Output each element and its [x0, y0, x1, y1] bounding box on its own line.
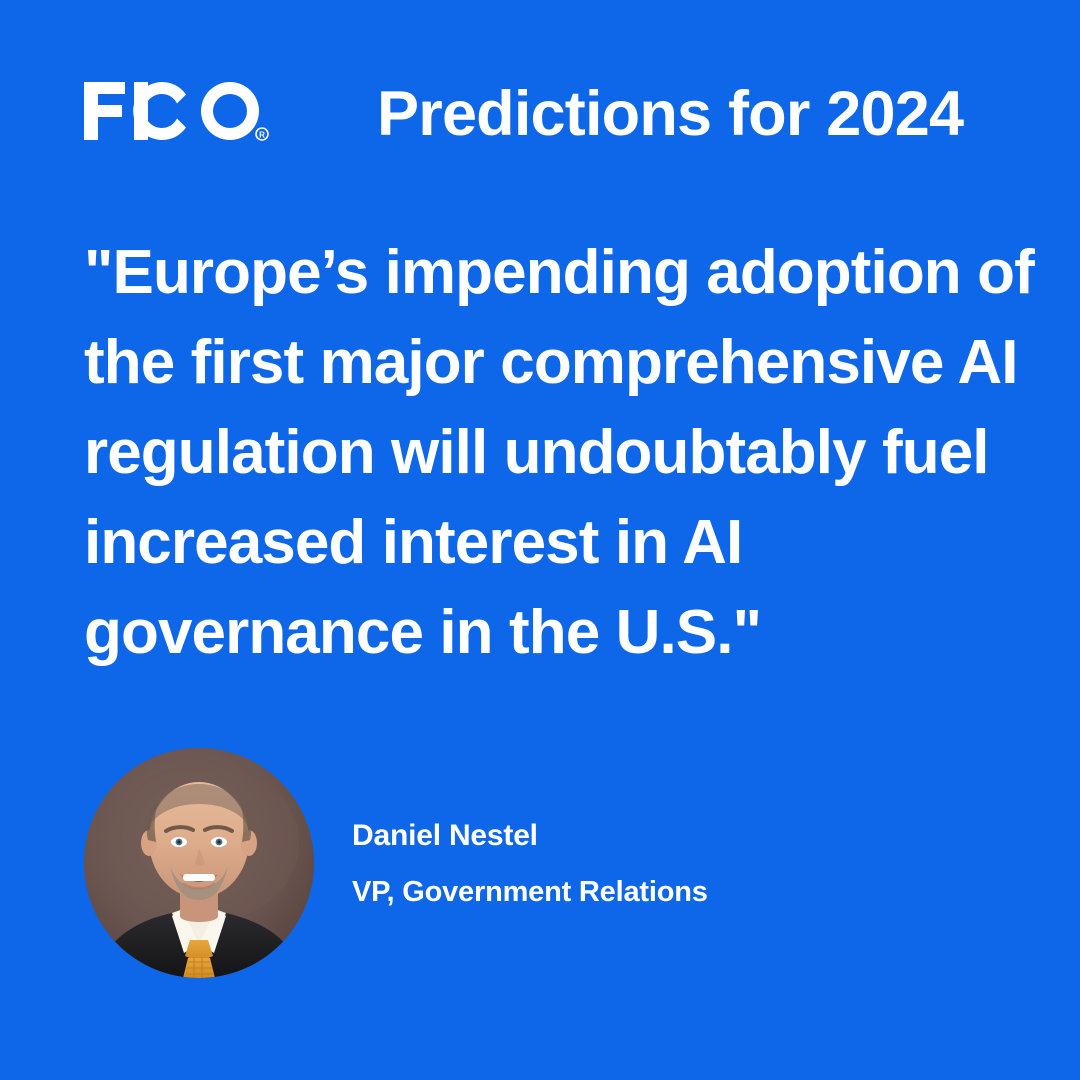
quote-text: "Europe’s impending adoption of the firs… — [84, 228, 1024, 678]
quote-line: regulation will undoubtably fuel — [84, 408, 1024, 498]
avatar — [84, 748, 314, 978]
quote-line: increased interest in AI — [84, 498, 1024, 588]
person-role: VP, Government Relations — [352, 872, 972, 912]
quote-line: "Europe’s impending adoption of — [84, 228, 1024, 318]
fico-logo: R — [84, 72, 269, 144]
page-title: Predictions for 2024 — [377, 72, 1037, 156]
quote-line: governance in the U.S." — [84, 588, 1024, 678]
attribution-block: Daniel Nestel VP, Government Relations — [84, 748, 984, 980]
quote-line: the first major comprehensive AI — [84, 318, 1024, 408]
card-header: R Predictions for 2024 — [0, 0, 1080, 175]
svg-text:R: R — [259, 131, 265, 140]
attribution-text: Daniel Nestel VP, Government Relations — [352, 816, 972, 912]
person-name: Daniel Nestel — [352, 816, 972, 856]
prediction-card: R Predictions for 2024 "Europe’s impendi… — [0, 0, 1080, 1080]
